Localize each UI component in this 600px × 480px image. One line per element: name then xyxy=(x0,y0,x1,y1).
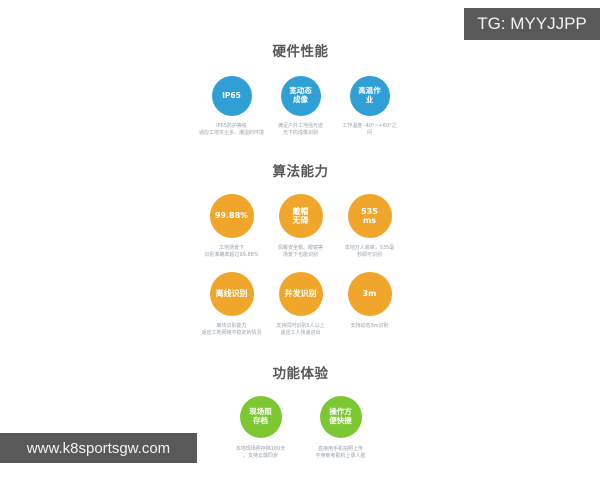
feature-badge: 戴帽 无碍 xyxy=(279,194,323,238)
feature-badge: 535 ms xyxy=(348,194,392,238)
badge-line: IP65 xyxy=(222,92,241,101)
feature-badge: 3m xyxy=(348,272,392,316)
screenshot-stage: 硬件性能 IP65 IP65防护等级 适应工地灰尘多、潮湿的环境 宽动态 成像 xyxy=(0,0,600,480)
badge-line: 存档 xyxy=(253,417,268,426)
caption-line: 支持动态3m识别 xyxy=(350,323,388,330)
caption-line: 直接用手机拍照上传 xyxy=(315,446,365,453)
feature-caption: 本地现场照存档180天 ，支持云端同步 xyxy=(236,446,286,459)
badge-line: 戴帽 xyxy=(293,207,309,216)
caption-line: 本地万人底库，535毫 xyxy=(345,245,395,252)
caption-line: 佩戴安全帽、眼镜等 xyxy=(278,245,323,252)
feature-badge: 高温作 业 xyxy=(350,76,390,116)
feature-item[interactable]: IP65 IP65防护等级 适应工地灰尘多、潮湿的环境 xyxy=(197,76,266,136)
badge-line: 成像 xyxy=(293,96,308,105)
feature-item[interactable]: 3m 支持动态3m识别 xyxy=(335,272,404,330)
caption-line: 本地现场照存档180天 xyxy=(236,446,286,453)
section-function: 功能体验 现场照 存档 本地现场照存档180天 ，支持云端同步 操作方 便 xyxy=(196,362,405,459)
section-title-algorithm: 算法能力 xyxy=(196,160,405,180)
feature-item[interactable]: 操作方 便快捷 直接用手机拍照上传 不用到考勤机上录人脸 xyxy=(301,396,381,459)
feature-badge: IP65 xyxy=(212,76,252,116)
feature-item[interactable]: 535 ms 本地万人底库，535毫 秒即可识别 xyxy=(335,194,404,258)
feature-caption: 支持同时识别5人以上 适应工人快速进出 xyxy=(276,323,324,336)
caption-line: 不用到考勤机上录人脸 xyxy=(315,453,365,460)
feature-badge: 操作方 便快捷 xyxy=(320,396,362,438)
feature-item[interactable]: 现场照 存档 本地现场照存档180天 ，支持云端同步 xyxy=(221,396,301,459)
feature-caption: 佩戴安全帽、眼镜等 场景下也能识别 xyxy=(278,245,323,258)
algorithm-item-row-2: 离线识别 离线识别能力 适应工地网络不稳定的情况 并发识别 支持同时识别5人以上… xyxy=(196,272,405,336)
feature-item[interactable]: 宽动态 成像 满足户外工地强光逆 光下的成像识别 xyxy=(266,76,335,136)
caption-line: 适应工地网络不稳定的情况 xyxy=(201,330,261,337)
badge-line: 无碍 xyxy=(293,216,309,225)
badge-line: 离线识别 xyxy=(216,289,248,298)
badge-line: 业 xyxy=(366,96,374,105)
feature-caption: 工作温度 -40°~+60°之 间 xyxy=(342,123,397,136)
caption-line: 光下的成像识别 xyxy=(278,130,323,137)
watermark-url: www.k8sportsgw.com xyxy=(0,433,197,463)
feature-badge: 离线识别 xyxy=(210,272,254,316)
caption-line: 场景下也能识别 xyxy=(278,252,323,259)
function-item-row: 现场照 存档 本地现场照存档180天 ，支持云端同步 操作方 便快捷 直接用手机… xyxy=(196,396,405,459)
section-title-function: 功能体验 xyxy=(196,362,405,382)
badge-line: 99.88% xyxy=(215,211,248,220)
feature-caption: IP65防护等级 适应工地灰尘多、潮湿的环境 xyxy=(199,123,264,136)
feature-caption: 本地万人底库，535毫 秒即可识别 xyxy=(345,245,395,258)
caption-line: ，支持云端同步 xyxy=(236,453,286,460)
feature-caption: 支持动态3m识别 xyxy=(350,323,388,330)
feature-badge: 99.88% xyxy=(210,194,254,238)
caption-line: 秒即可识别 xyxy=(345,252,395,259)
feature-caption: 直接用手机拍照上传 不用到考勤机上录人脸 xyxy=(315,446,365,459)
feature-badge: 宽动态 成像 xyxy=(281,76,321,116)
caption-line: 识别准确率超过99.88% xyxy=(204,252,258,259)
caption-line: 适应工人快速进出 xyxy=(276,330,324,337)
badge-line: 便快捷 xyxy=(329,417,352,426)
section-algorithm: 算法能力 99.88% 工地场景下 识别准确率超过99.88% 戴帽 无碍 xyxy=(196,160,405,336)
caption-line: 适应工地灰尘多、潮湿的环境 xyxy=(199,130,264,137)
feature-item[interactable]: 99.88% 工地场景下 识别准确率超过99.88% xyxy=(197,194,266,258)
caption-line: 支持同时识别5人以上 xyxy=(276,323,324,330)
feature-card: 硬件性能 IP65 IP65防护等级 适应工地灰尘多、潮湿的环境 宽动态 成像 xyxy=(196,0,405,446)
badge-line: 并发识别 xyxy=(285,289,317,298)
badge-line: 3m xyxy=(363,289,377,298)
caption-line: 间 xyxy=(342,130,397,137)
feature-caption: 工地场景下 识别准确率超过99.88% xyxy=(204,245,258,258)
feature-badge: 现场照 存档 xyxy=(240,396,282,438)
feature-caption: 离线识别能力 适应工地网络不稳定的情况 xyxy=(201,323,261,336)
feature-item[interactable]: 离线识别 离线识别能力 适应工地网络不稳定的情况 xyxy=(197,272,266,336)
section-hardware: 硬件性能 IP65 IP65防护等级 适应工地灰尘多、潮湿的环境 宽动态 成像 xyxy=(196,40,405,136)
algorithm-item-row-1: 99.88% 工地场景下 识别准确率超过99.88% 戴帽 无碍 佩戴安全帽、眼… xyxy=(196,194,405,258)
feature-item[interactable]: 高温作 业 工作温度 -40°~+60°之 间 xyxy=(335,76,404,136)
feature-item[interactable]: 并发识别 支持同时识别5人以上 适应工人快速进出 xyxy=(266,272,335,336)
hardware-item-row: IP65 IP65防护等级 适应工地灰尘多、潮湿的环境 宽动态 成像 满足户外工… xyxy=(196,76,405,136)
badge-line: ms xyxy=(363,216,376,225)
caption-line: 满足户外工地强光逆 xyxy=(278,123,323,130)
feature-caption: 满足户外工地强光逆 光下的成像识别 xyxy=(278,123,323,136)
badge-line: 535 xyxy=(361,207,378,216)
watermark-tag: TG: MYYJJPP xyxy=(464,8,600,40)
section-title-hardware: 硬件性能 xyxy=(196,40,405,60)
feature-badge: 并发识别 xyxy=(279,272,323,316)
feature-item[interactable]: 戴帽 无碍 佩戴安全帽、眼镜等 场景下也能识别 xyxy=(266,194,335,258)
caption-line: 工作温度 -40°~+60°之 xyxy=(342,123,397,130)
